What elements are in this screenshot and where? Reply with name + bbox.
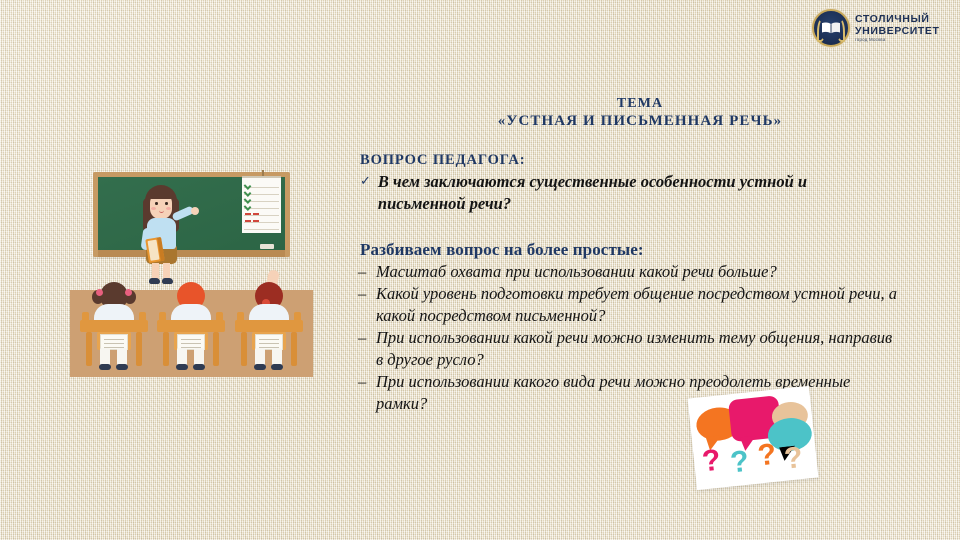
list-item-text: Масштаб охвата при использовании какой р… xyxy=(376,261,903,283)
question-mark-pink: ? xyxy=(701,446,722,478)
dash-icon: – xyxy=(358,327,367,349)
dash-icon: – xyxy=(358,283,367,305)
student-ponytail xyxy=(235,282,303,377)
logo-line-3: город Москва xyxy=(855,38,940,42)
list-item-text: При использовании какой речи можно измен… xyxy=(376,327,903,371)
title-line-1: ТЕМА xyxy=(360,96,920,113)
question-mark-tan: ? xyxy=(783,443,804,475)
list-item-text: При использовании какого вида речи можно… xyxy=(376,371,903,415)
breakdown-heading: Разбиваем вопрос на более простые: xyxy=(360,240,644,260)
eraser-icon xyxy=(260,244,274,249)
teacher-figure xyxy=(133,182,193,282)
logo-line-2: УНИВЕРСИТЕТ xyxy=(855,26,940,37)
list-item: – Какой уровень подготовки требует общен… xyxy=(358,283,903,327)
teacher-question-heading: ВОПРОС ПЕДАГОГА: xyxy=(360,152,525,169)
dash-icon: – xyxy=(358,261,367,283)
logo-wordmark: СТОЛИЧНЫЙ УНИВЕРСИТЕТ город Москва xyxy=(855,13,940,42)
list-item: – При использовании какого вида речи мож… xyxy=(358,371,903,415)
pointing-hand-icon xyxy=(191,207,199,215)
wall-chart-checklist xyxy=(242,176,281,233)
open-book-icon xyxy=(821,22,841,35)
question-mark-teal: ? xyxy=(729,447,750,479)
question-mark-orange: ? xyxy=(756,440,777,472)
checkmark-icon: ✓ xyxy=(360,171,371,189)
teacher-question-text: В чем заключаются существенные особеннос… xyxy=(378,171,883,215)
list-item: – Масштаб охвата при использовании какой… xyxy=(358,261,903,283)
dash-icon: – xyxy=(358,371,367,393)
title-line-2: «УСТНАЯ И ПИСЬМЕННАЯ РЕЧЬ» xyxy=(360,113,920,131)
slide-title: ТЕМА «УСТНАЯ И ПИСЬМЕННАЯ РЕЧЬ» xyxy=(360,96,920,130)
university-logo: СТОЛИЧНЫЙ УНИВЕРСИТЕТ город Москва xyxy=(812,6,958,50)
student-pigtails xyxy=(80,282,148,377)
list-item: – При использовании какой речи можно изм… xyxy=(358,327,903,371)
classroom-illustration xyxy=(70,172,313,377)
student-raising-hand xyxy=(157,282,225,377)
list-item-text: Какой уровень подготовки требует общение… xyxy=(376,283,903,327)
question-speech-bubbles-image: ? ? ? ? xyxy=(688,386,819,490)
slide-canvas: СТОЛИЧНЫЙ УНИВЕРСИТЕТ город Москва xyxy=(0,0,960,540)
teacher-question-row: ✓ В чем заключаются существенные особенн… xyxy=(360,171,890,215)
logo-line-1: СТОЛИЧНЫЙ xyxy=(855,14,940,25)
breakdown-list: – Масштаб охвата при использовании какой… xyxy=(358,261,903,415)
open-book-laurel-wreath-icon xyxy=(812,9,850,47)
